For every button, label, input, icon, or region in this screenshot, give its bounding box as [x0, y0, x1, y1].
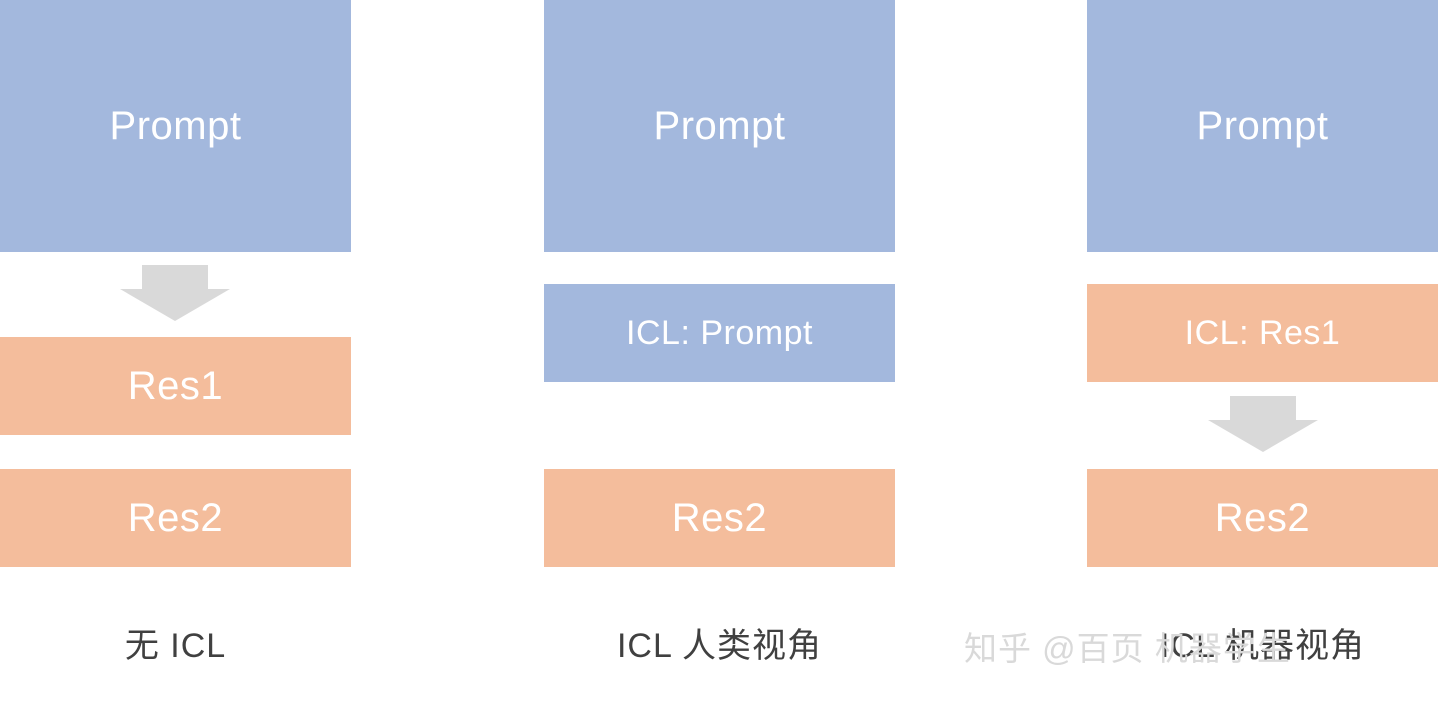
diagram-column-no-icl: Prompt Res1 Res2 无 ICL [0, 0, 351, 707]
box-prompt-col3: Prompt [1087, 0, 1438, 252]
box-icl-res1-col3: ICL: Res1 [1087, 284, 1438, 382]
diagram-column-icl-human: Prompt ICL: Prompt Res2 ICL 人类视角 [544, 0, 895, 707]
down-arrow-icon-col1 [120, 265, 230, 321]
diagram-column-icl-machine: Prompt ICL: Res1 Res2 ICL 机器视角 [1087, 0, 1438, 707]
watermark-text: 知乎 @百页 机器学生 [964, 622, 1291, 670]
caption-col1: 无 ICL [0, 618, 351, 667]
diagram-canvas: Prompt Res1 Res2 无 ICL Prompt ICL: Promp… [0, 0, 1440, 707]
box-prompt-col2: Prompt [544, 0, 895, 252]
box-res2-col1: Res2 [0, 469, 351, 567]
box-res1-col1: Res1 [0, 337, 351, 435]
box-res2-col2: Res2 [544, 469, 895, 567]
box-icl-prompt-col2: ICL: Prompt [544, 284, 895, 382]
box-prompt-col1: Prompt [0, 0, 351, 252]
box-res2-col3: Res2 [1087, 469, 1438, 567]
caption-col2: ICL 人类视角 [544, 618, 895, 667]
